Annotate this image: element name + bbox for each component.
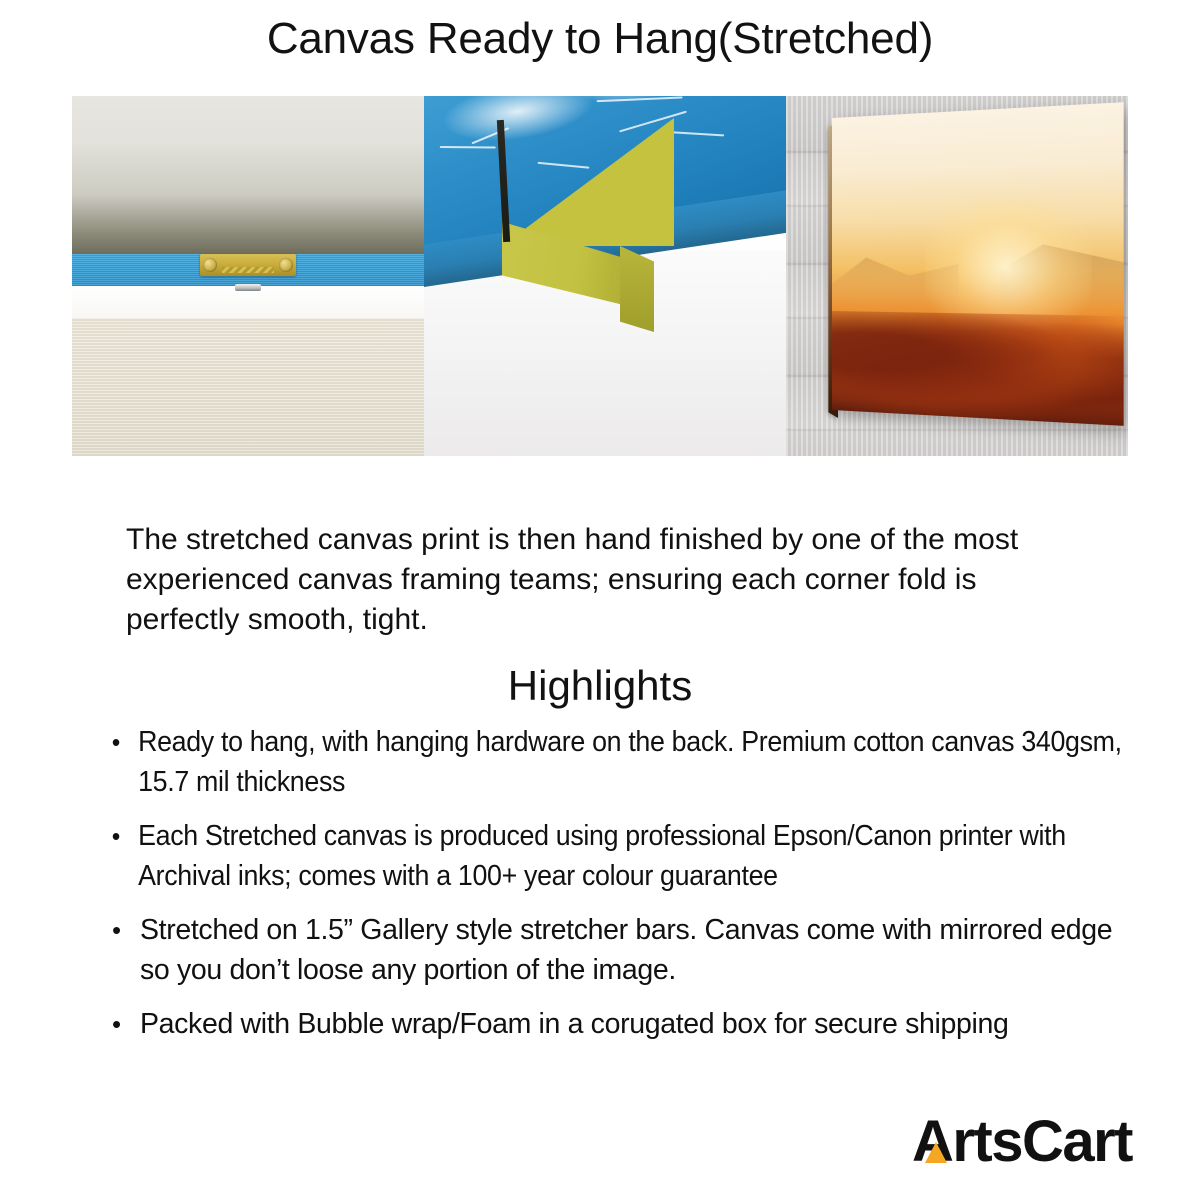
corner-fold-top [502,118,674,246]
list-item-text: Stretched on 1.5” Gallery style stretche… [140,914,1112,986]
bullet-marker: • [112,816,120,856]
list-item: • Each Stretched canvas is produced usin… [108,816,1144,896]
sawtooth-teeth [222,267,274,273]
orange-triangle-icon [925,1142,947,1163]
screw-icon [203,258,217,272]
bullet-marker: • [112,722,120,762]
artscart-logo: ArtsCart [912,1110,1132,1172]
cotton-canvas-surface [72,318,424,456]
wall-mounted-canvas-photo [786,96,1128,456]
list-item-text: Ready to hang, with hanging hardware on … [138,726,1122,798]
corner-fold-photo [424,96,786,456]
highlights-heading: Highlights [0,662,1200,710]
foreground-foliage [832,311,1124,426]
page-title: Canvas Ready to Hang(Stretched) [0,14,1200,64]
screw-icon [279,258,293,272]
wall-nail-icon [235,284,261,291]
sawtooth-hanger-icon [200,254,296,276]
photo-strip [72,96,1128,456]
list-item: • Packed with Bubble wrap/Foam in a coru… [108,1004,1118,1044]
list-item: • Stretched on 1.5” Gallery style stretc… [108,910,1118,990]
list-item-text: Each Stretched canvas is produced using … [138,820,1066,892]
list-item-text: Packed with Bubble wrap/Foam in a coruga… [140,1008,1008,1040]
wave-line [440,146,496,148]
sunset-landscape-canvas [832,102,1124,426]
list-item: • Ready to hang, with hanging hardware o… [108,722,1144,802]
highlights-list: • Ready to hang, with hanging hardware o… [108,722,1118,1058]
canvas-back-surface [72,96,424,254]
logo-text: ArtsCart [912,1108,1132,1175]
intro-paragraph: The stretched canvas print is then hand … [126,520,1092,640]
bullet-marker: • [112,1004,121,1044]
hanging-hardware-photo [72,96,424,456]
bullet-marker: • [112,910,121,950]
